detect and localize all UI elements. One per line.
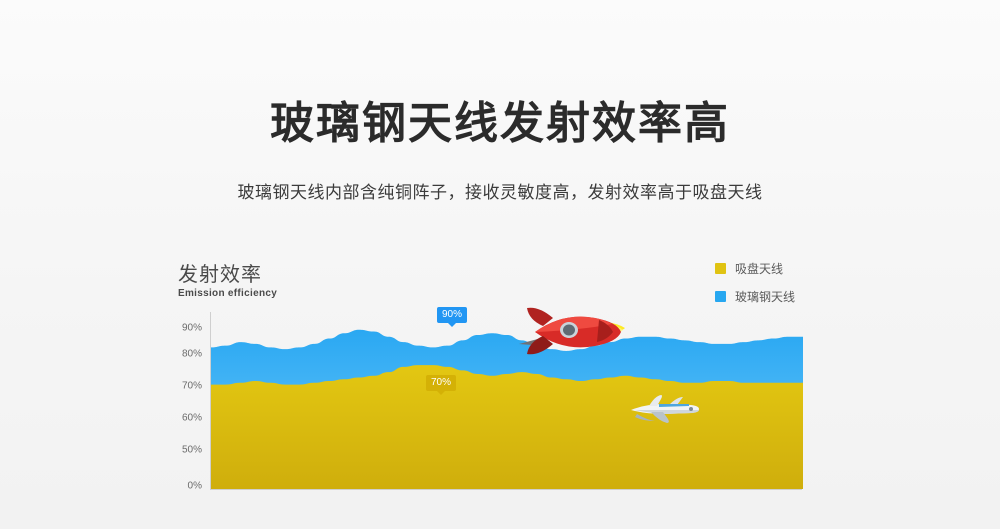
legend-swatch-frp: [715, 291, 726, 302]
y-tick-50: 50%: [182, 445, 202, 456]
legend-label-frp: 玻璃钢天线: [735, 288, 795, 305]
y-tick-0: 0%: [188, 481, 202, 492]
y-tick-70: 70%: [182, 381, 202, 392]
chart-container: 发射效率 Emission efficiency 吸盘天线 玻璃钢天线 90% …: [170, 250, 830, 510]
y-tick-90: 90%: [182, 323, 202, 334]
legend-item-suction: 吸盘天线: [715, 260, 845, 277]
plane-icon: [625, 388, 705, 428]
page-subtitle: 玻璃钢天线内部含纯铜阵子，接收灵敏度高，发射效率高于吸盘天线: [0, 178, 1000, 203]
chart-subtitle: Emission efficiency: [178, 288, 277, 299]
page-root: 玻璃钢天线发射效率高 玻璃钢天线内部含纯铜阵子，接收灵敏度高，发射效率高于吸盘天…: [0, 0, 1000, 529]
page-title: 玻璃钢天线发射效率高: [0, 98, 1000, 151]
chart-plot: [210, 312, 802, 490]
chart-title: 发射效率: [178, 258, 262, 287]
legend-item-frp: 玻璃钢天线: [715, 288, 845, 305]
rocket-icon: [515, 302, 625, 362]
legend-label-suction: 吸盘天线: [735, 260, 783, 277]
y-tick-60: 60%: [182, 413, 202, 424]
chart-legend: 吸盘天线 玻璃钢天线: [715, 260, 845, 316]
legend-swatch-suction: [715, 263, 726, 274]
annotation-flag-90: 90%: [437, 307, 467, 323]
y-axis-labels: 90% 80% 70% 60% 50% 0%: [170, 312, 206, 490]
chart-svg: [211, 312, 803, 489]
annotation-flag-70: 70%: [426, 375, 456, 391]
y-tick-80: 80%: [182, 349, 202, 360]
